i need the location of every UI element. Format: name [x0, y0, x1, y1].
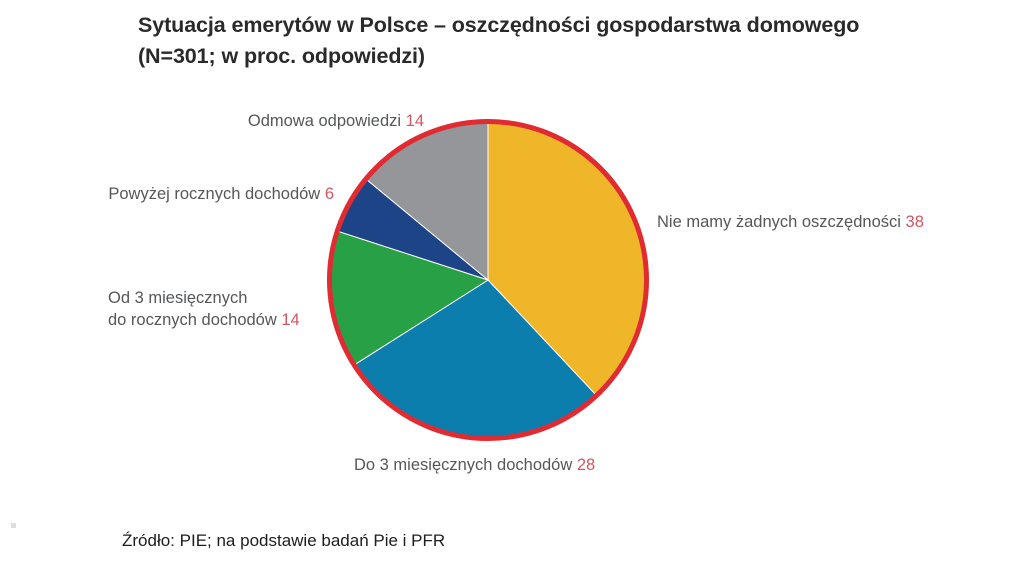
slice-label-three-months-to-yearly-text-2: do rocznych dochodów [108, 311, 277, 329]
slice-label-refusal-text: Odmowa odpowiedzi [248, 112, 401, 130]
slice-label-no-savings-line: Nie mamy żadnych oszczędności 38 [657, 212, 997, 234]
slice-label-above-yearly: Powyżej rocznych dochodów 6 [84, 184, 334, 206]
slice-label-to-three-months: Do 3 miesięcznych dochodów 28 [354, 455, 674, 477]
slice-value-refusal: 14 [406, 112, 424, 130]
slice-value-to-three-months: 28 [577, 456, 595, 474]
page-title-line-2: (N=301; w proc. odpowiedzi) [138, 41, 938, 72]
slice-label-three-months-to-yearly: Od 3 miesięcznych do rocznych dochodów 1… [108, 288, 338, 332]
page-title: Sytuacja emerytów w Polsce – oszczędnośc… [138, 10, 938, 71]
corner-artifact-mark [11, 523, 16, 528]
slice-label-refusal-line: Odmowa odpowiedzi 14 [224, 111, 424, 133]
pie-chart-svg [325, 117, 651, 443]
slice-label-no-savings-text: Nie mamy żadnych oszczędności [657, 213, 901, 231]
page-title-line-1: Sytuacja emerytów w Polsce – oszczędnośc… [138, 10, 938, 41]
slice-label-no-savings: Nie mamy żadnych oszczędności 38 [657, 212, 997, 234]
source-note: Źródło: PIE; na podstawie badań Pie i PF… [122, 531, 445, 551]
slice-value-above-yearly: 6 [325, 185, 334, 203]
pie-chart [325, 117, 651, 443]
slice-value-no-savings: 38 [906, 213, 924, 231]
slice-label-above-yearly-text: Powyżej rocznych dochodów [108, 185, 320, 203]
slice-label-to-three-months-text: Do 3 miesięcznych dochodów [354, 456, 572, 474]
slice-label-three-months-to-yearly-line-1: Od 3 miesięcznych [108, 288, 338, 310]
slice-label-three-months-to-yearly-line-2: do rocznych dochodów 14 [108, 310, 338, 332]
slice-label-above-yearly-line: Powyżej rocznych dochodów 6 [84, 184, 334, 206]
slice-value-three-months-to-yearly: 14 [281, 311, 299, 329]
slice-label-to-three-months-line: Do 3 miesięcznych dochodów 28 [354, 455, 674, 477]
pie-chart-slide: Sytuacja emerytów w Polsce – oszczędnośc… [0, 0, 1029, 588]
slice-label-refusal: Odmowa odpowiedzi 14 [224, 111, 424, 133]
